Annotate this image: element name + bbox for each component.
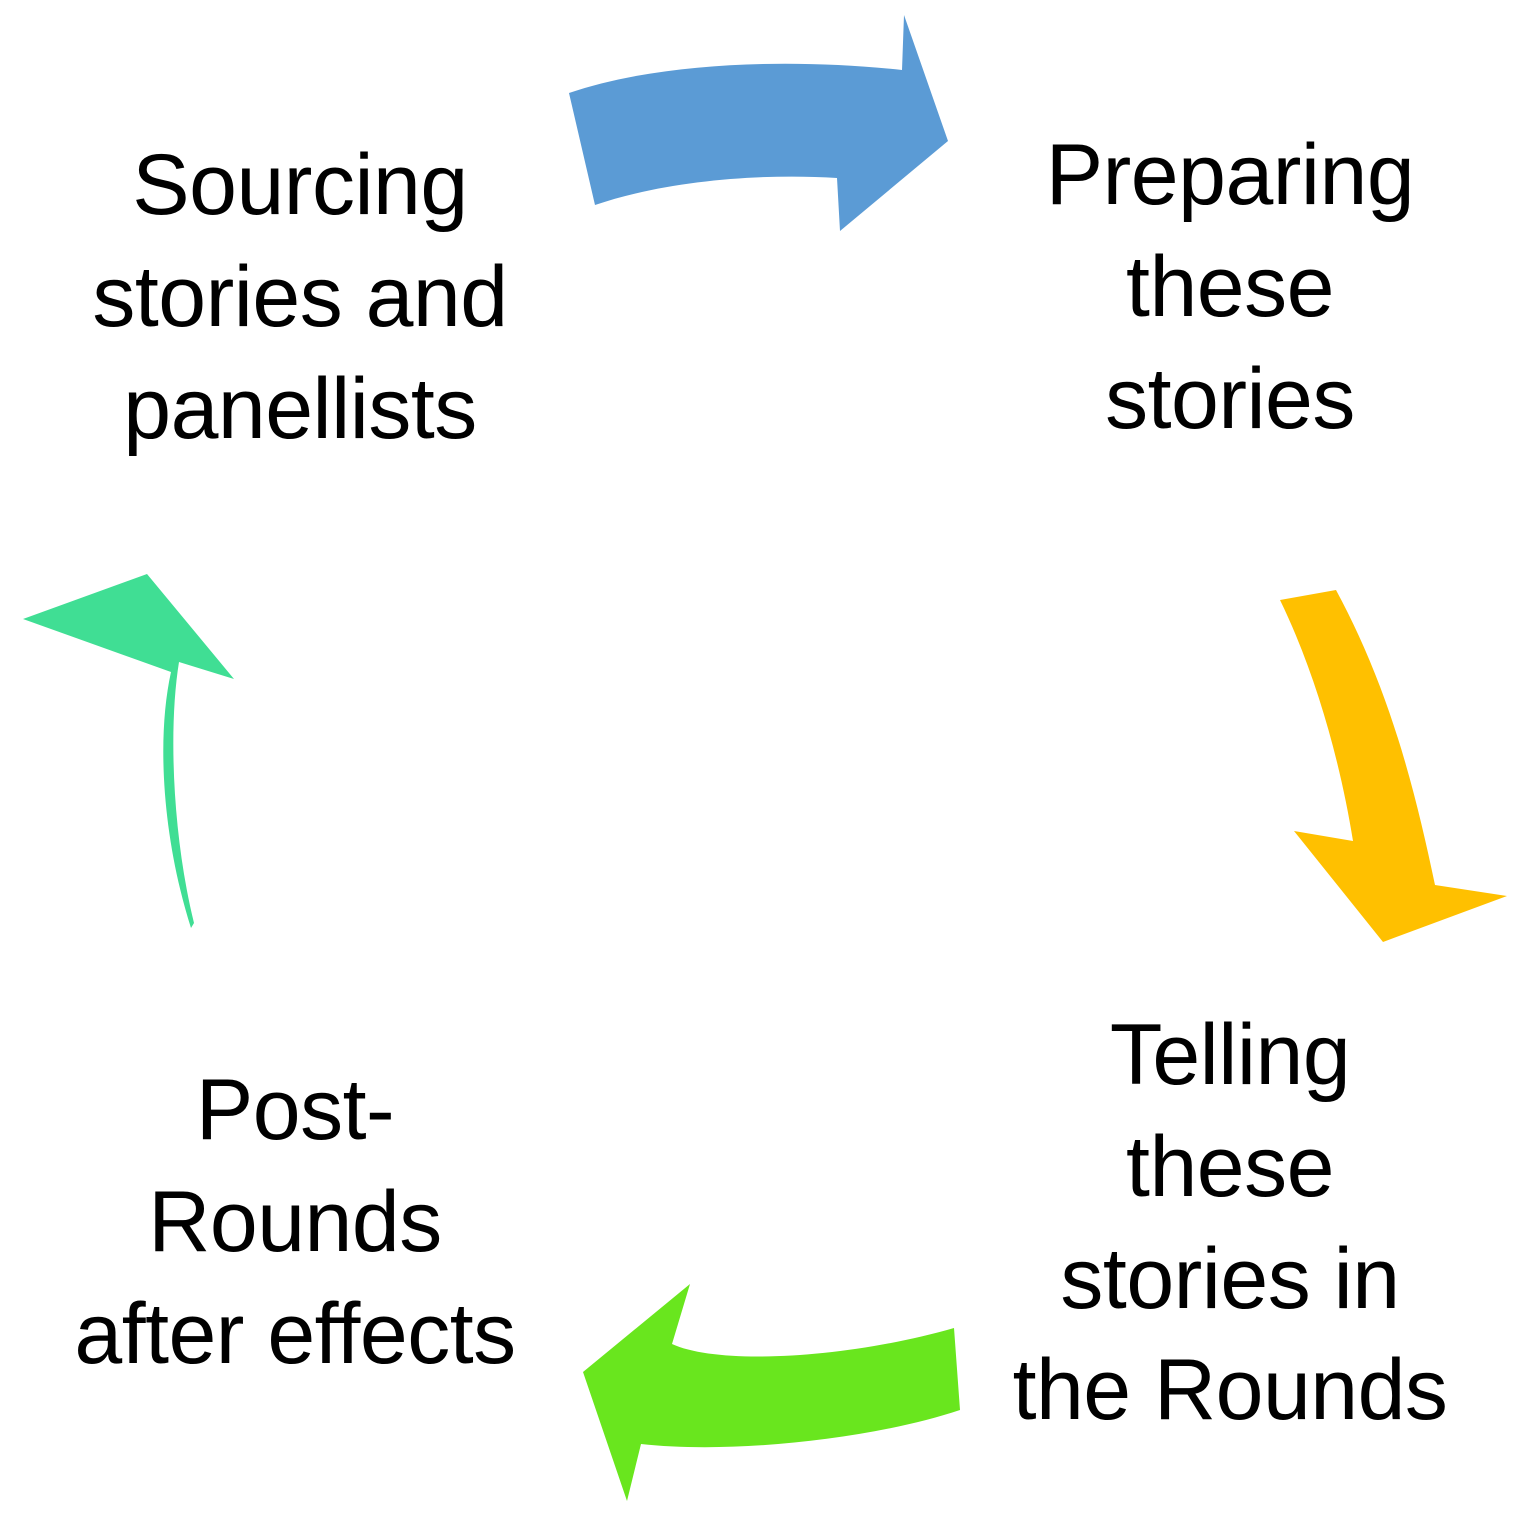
arrow-sourcing-to-preparing: [569, 15, 948, 231]
arrow-post-rounds-to-sourcing: [23, 574, 234, 928]
step-label-post-rounds: Post- Rounds after effects: [10, 1055, 580, 1390]
step-label-sourcing: Sourcing stories and panellists: [20, 130, 580, 465]
arrow-preparing-to-telling: [1280, 590, 1507, 942]
step-label-preparing: Preparing these stories: [960, 120, 1500, 455]
step-label-telling: Telling these stories in the Rounds: [950, 1000, 1510, 1447]
diagram-canvas: Sourcing stories and panellists Preparin…: [0, 0, 1524, 1518]
arrow-telling-to-post-rounds: [583, 1284, 960, 1501]
